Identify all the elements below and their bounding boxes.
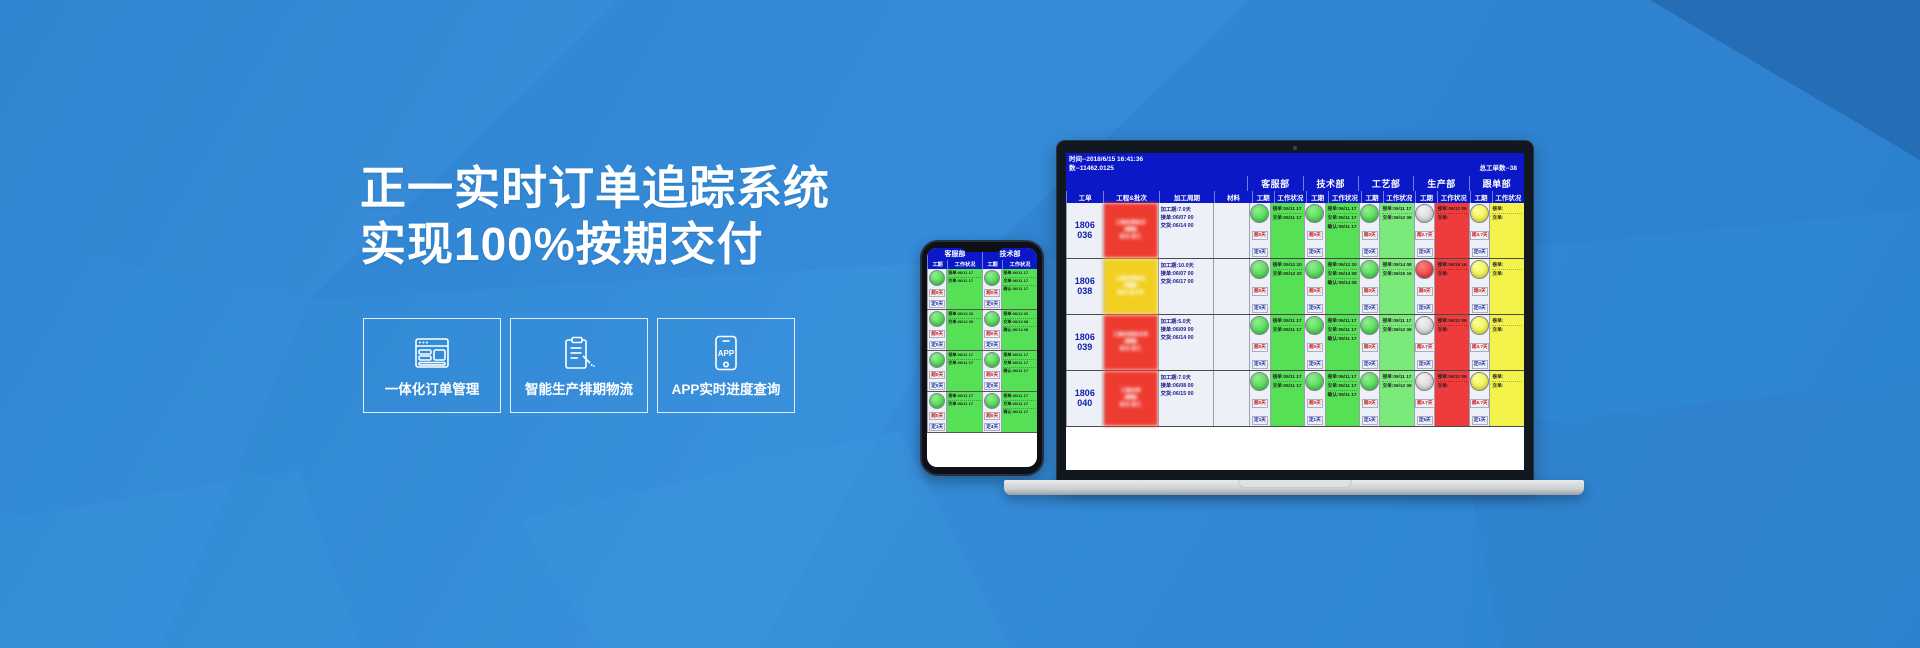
dept-status-detail: 接单:06/11 17交单:06/11 17	[1271, 315, 1305, 370]
phone-status-gauge-green-icon	[929, 311, 945, 327]
phone-duration-column: 超0天定0天	[928, 269, 947, 309]
status-badge-planned: 定0天	[1362, 360, 1378, 368]
cell-project-batch: 工程名称批次号(模糊)批次-加工	[1103, 315, 1158, 370]
col-header-duration-5: 工期	[1470, 191, 1492, 203]
dept-duration-column: 超0天定0天	[1305, 315, 1325, 370]
dept-duration-column: 超0天定1天	[1360, 371, 1380, 426]
dept-duration-column: 超0天定0天	[1250, 315, 1270, 370]
dept-status-detail: 接单:06/11 17交单:06/11 17	[1271, 203, 1305, 258]
cell-material	[1213, 203, 1250, 258]
status-gauge-green-icon	[1250, 204, 1269, 223]
feature-label-app-query: APP实时进度查询	[672, 378, 781, 398]
dept-status-detail: 接单:交单:	[1490, 203, 1524, 258]
status-badge-overdue: 超0天	[1307, 399, 1323, 407]
phone-duration-column: 超0天定4天	[983, 392, 1002, 432]
dept-status-detail: 接单:06/11 17交单:06/11 17确认:06/11 17	[1326, 203, 1360, 258]
status-badge-planned: 定0天	[1417, 248, 1433, 256]
status-badge-overdue: 超0天	[1252, 287, 1268, 295]
status-gauge-green-icon	[1360, 372, 1379, 391]
cell-dept-status-2[interactable]: 超0天定0天接单:06/12 20交单:06/14 08确认:06/14 08	[1304, 259, 1359, 314]
dept-duration-column: 超0天定0天	[1305, 259, 1325, 314]
cell-dept-status-1[interactable]: 超0天定0天接单:06/12 20交单:06/12 20	[1249, 259, 1304, 314]
phone-status-badge-planned: 定0天	[984, 341, 1000, 349]
dept-duration-column: 超2.7天定0天	[1415, 315, 1435, 370]
table-row[interactable]: 1806038工程名称批次(模糊)批次-加工件加工期:10.0天接单:06/07…	[1066, 259, 1524, 315]
status-gauge-green-icon	[1305, 316, 1324, 335]
feature-label-production-logistics: 智能生产排期物流	[525, 378, 633, 398]
hero-copy: 正一实时订单追踪系统 实现100%按期交付	[360, 160, 880, 272]
laptop-screen: 时间--2018/6/15 16:41:36 数--11462.0125 总工单…	[1066, 153, 1524, 470]
dept-status-detail: 接单:06/12 20交单:06/12 20	[1271, 259, 1305, 314]
banner-stage: 正一实时订单追踪系统 实现100%按期交付 一体化订单管理	[0, 0, 1920, 648]
mobile-app-icon: APP	[713, 333, 739, 373]
status-badge-overdue: 超0天	[1417, 287, 1433, 295]
phone-duration-column: 超0天定0天	[928, 351, 947, 391]
erp-column-header: 工单 工程&批次 加工周期 材料 工期工作状况工期工作状况工期工作状况工期工作状…	[1066, 191, 1524, 203]
feature-card-app-query[interactable]: APP APP实时进度查询	[657, 318, 795, 413]
phone-duration-column: 超0天定0天	[983, 310, 1002, 350]
dept-status-detail: 接单:06/11 17交单:06/11 17确认:06/11 17	[1326, 371, 1360, 426]
cell-order-number: 1806039	[1066, 315, 1103, 370]
status-badge-planned: 定0天	[1472, 248, 1488, 256]
status-badge-planned: 定0天	[1307, 248, 1323, 256]
dept-status-detail: 接单:06/12 09交单:	[1435, 315, 1469, 370]
status-gauge-green-icon	[1250, 260, 1269, 279]
status-badge-overdue: 超0天	[1362, 343, 1378, 351]
col-header-duration-3: 工期	[1361, 191, 1383, 203]
dept-header-technology: 技术部	[1303, 176, 1358, 191]
cell-dept-status-3[interactable]: 超0天定0天接单:06/11 17交单:06/12 09	[1359, 315, 1414, 370]
phone-dept-cell-1[interactable]: 超0天定0天接单:06/11 17交单:06/11 17	[927, 269, 982, 309]
phone-duration-column: 超0天定0天	[928, 310, 947, 350]
cell-dept-status-2[interactable]: 超0天定0天接单:06/11 17交单:06/11 17确认:06/11 17	[1304, 203, 1359, 258]
dept-duration-column: 超0天定0天	[1250, 259, 1270, 314]
dept-duration-column: 超0天定0天	[1250, 203, 1270, 258]
dept-status-detail: 接单:06/11 17交单:06/11 17	[1271, 371, 1305, 426]
phone-status-gauge-green-icon	[984, 352, 1000, 368]
col-header-cycle: 加工周期	[1159, 191, 1214, 203]
laptop-trackpad-notch	[1238, 480, 1352, 488]
feature-card-production-logistics[interactable]: 智能生产排期物流	[510, 318, 648, 413]
col-header-duration-4: 工期	[1415, 191, 1437, 203]
cell-material	[1213, 315, 1250, 370]
phone-dept-cell-1[interactable]: 超0天定0天接单:06/11 17交单:06/11 17	[927, 351, 982, 391]
erp-number-label: 数--11462.0125	[1069, 164, 1143, 173]
cell-material	[1213, 259, 1250, 314]
cell-project-batch: 工程名称批次(模糊)批次-加工件	[1103, 259, 1158, 314]
dashboard-icon	[414, 333, 450, 373]
status-gauge-yellow-icon	[1470, 204, 1489, 223]
phone-status-gauge-green-icon	[929, 393, 945, 409]
status-badge-overdue: 超3.7天	[1470, 231, 1490, 239]
phone-status-badge-overdue: 超0天	[984, 412, 1000, 420]
phone-dept-cell-1[interactable]: 超0天定0天接单:06/12 20交单:06/12 20	[927, 310, 982, 350]
dept-status-detail: 接单:交单:	[1490, 371, 1524, 426]
status-gauge-yellow-icon	[1470, 260, 1489, 279]
status-badge-planned: 定0天	[1417, 304, 1433, 312]
cell-processing-cycle: 加工期:7.0天接单:06/07 00交货:06/14 00	[1158, 203, 1213, 258]
cell-dept-status-3[interactable]: 超0天定1天接单:06/11 17交单:06/12 09	[1359, 371, 1414, 426]
dept-duration-column: 超0天定0天	[1360, 315, 1380, 370]
phone-sub-status-1: 工作状况	[947, 260, 982, 269]
status-badge-overdue: 超2.7天	[1415, 231, 1435, 239]
cell-order-number: 1806040	[1066, 371, 1103, 426]
status-badge-overdue: 超0天	[1362, 231, 1378, 239]
table-row[interactable]: 1806036工程名称批次(模糊)批次-加工加工期:7.0天接单:06/07 0…	[1066, 203, 1524, 259]
phone-status-badge-planned: 定0天	[984, 382, 1000, 390]
erp-time-label: 时间--2018/6/15 16:41:36	[1069, 155, 1143, 164]
dept-duration-column: 超3.7天定5天	[1415, 371, 1435, 426]
status-gauge-green-icon	[1360, 204, 1379, 223]
dept-header-followup: 跟单部	[1469, 176, 1524, 191]
phone-status-badge-overdue: 超0天	[929, 289, 945, 297]
status-badge-planned: 定1天	[1252, 416, 1268, 424]
phone-status-badge-overdue: 超0天	[929, 371, 945, 379]
status-badge-planned: 定0天	[1252, 360, 1268, 368]
page-title: 正一实时订单追踪系统 实现100%按期交付	[360, 160, 880, 272]
phone-status-detail: 接单:06/11 17交单:06/11 17	[947, 392, 982, 432]
phone-status-badge-planned: 定1天	[929, 423, 945, 431]
laptop-lid: 时间--2018/6/15 16:41:36 数--11462.0125 总工单…	[1056, 140, 1534, 487]
table-row[interactable]: 1806039工程名称批次号(模糊)批次-加工加工期:5.0天接单:06/09 …	[1066, 315, 1524, 371]
phone-status-badge-planned: 定0天	[929, 300, 945, 308]
dept-header-customer-service: 客服部	[1247, 176, 1302, 191]
cell-dept-status-2[interactable]: 超0天定1天接单:06/11 17交单:06/11 17确认:06/11 17	[1304, 371, 1359, 426]
cell-material	[1213, 371, 1250, 426]
dept-header-production: 生产部	[1413, 176, 1468, 191]
dept-duration-column: 超2.7天定0天	[1415, 203, 1435, 258]
dept-status-detail: 接单:06/15 16交单:	[1435, 259, 1469, 314]
status-badge-planned: 定0天	[1307, 360, 1323, 368]
cell-dept-status-1[interactable]: 超0天定1天接单:06/11 17交单:06/11 17	[1249, 371, 1304, 426]
cell-dept-status-1[interactable]: 超0天定0天接单:06/11 17交单:06/11 17	[1249, 315, 1304, 370]
phone-status-detail: 接单:06/11 17交单:06/11 17	[947, 269, 982, 309]
status-badge-planned: 定5天	[1417, 416, 1433, 424]
dept-duration-column: 超3.7天定0天	[1470, 315, 1490, 370]
dept-status-detail: 接单:06/14 08交单:06/15 16	[1380, 259, 1414, 314]
table-row[interactable]: 1806040工程名称(模糊)批次-加工加工期:7.0天接单:06/08 00交…	[1066, 371, 1524, 427]
phone-status-gauge-green-icon	[929, 352, 945, 368]
phone-status-badge-overdue: 超0天	[984, 289, 1000, 297]
cell-processing-cycle: 加工期:5.0天接单:06/09 00交货:06/14 00	[1158, 315, 1213, 370]
erp-table-body: 1806036工程名称批次(模糊)批次-加工加工期:7.0天接单:06/07 0…	[1066, 203, 1524, 427]
col-header-material: 材料	[1214, 191, 1251, 203]
feature-card-order-management[interactable]: 一体化订单管理	[363, 318, 501, 413]
status-gauge-grey-icon	[1415, 316, 1434, 335]
col-header-status-2: 工作状况	[1328, 191, 1361, 203]
svg-text:APP: APP	[718, 349, 735, 358]
col-header-order: 工单	[1066, 191, 1103, 203]
status-badge-planned: 定0天	[1472, 360, 1488, 368]
phone-status-badge-overdue: 超0天	[984, 330, 1000, 338]
headline-line-2: 实现100%按期交付	[360, 216, 880, 272]
cell-order-number: 1806036	[1066, 203, 1103, 258]
phone-status-detail: 接单:06/11 17交单:06/11 17	[947, 351, 982, 391]
status-badge-overdue: 超0天	[1307, 343, 1323, 351]
laptop-mockup: 时间--2018/6/15 16:41:36 数--11462.0125 总工单…	[1004, 140, 1584, 500]
cell-dept-status-1[interactable]: 超0天定0天接单:06/11 17交单:06/11 17	[1249, 203, 1304, 258]
cell-dept-status-4[interactable]: 超3.7天定5天接单:06/12 09交单:	[1414, 371, 1469, 426]
dept-status-detail: 接单:06/11 17交单:06/11 17确认:06/11 17	[1326, 315, 1360, 370]
col-header-status-1: 工作状况	[1274, 191, 1307, 203]
status-badge-planned: 定0天	[1472, 304, 1488, 312]
col-header-duration-1: 工期	[1252, 191, 1274, 203]
dept-status-detail: 接单:交单:	[1490, 315, 1524, 370]
status-gauge-green-icon	[1250, 316, 1269, 335]
cell-dept-status-4[interactable]: 超0天定0天接单:06/15 16交单:	[1414, 259, 1469, 314]
status-gauge-green-icon	[1305, 260, 1324, 279]
status-gauge-green-icon	[1360, 260, 1379, 279]
status-badge-overdue: 超3.7天	[1415, 399, 1435, 407]
dept-status-detail: 接单:06/11 17交单:06/12 09	[1380, 371, 1414, 426]
status-gauge-green-icon	[1305, 372, 1324, 391]
phone-status-badge-overdue: 超0天	[984, 371, 1000, 379]
status-badge-planned: 定0天	[1252, 248, 1268, 256]
phone-notch	[961, 244, 1003, 252]
status-gauge-grey-icon	[1415, 372, 1434, 391]
cell-dept-status-4[interactable]: 超2.7天定0天接单:06/12 09交单:	[1414, 203, 1469, 258]
dept-duration-column: 超0天定0天	[1305, 203, 1325, 258]
phone-status-gauge-green-icon	[984, 393, 1000, 409]
feature-list: 一体化订单管理 智能生产排期物流	[363, 318, 795, 413]
headline-line-1: 正一实时订单追踪系统	[360, 162, 830, 214]
cell-dept-status-2[interactable]: 超0天定0天接单:06/11 17交单:06/11 17确认:06/11 17	[1304, 315, 1359, 370]
phone-sub-duration-1: 工期	[927, 260, 947, 269]
phone-duration-column: 超0天定1天	[928, 392, 947, 432]
col-header-project: 工程&批次	[1103, 191, 1158, 203]
feature-label-order-management: 一体化订单管理	[385, 378, 480, 398]
status-gauge-green-icon	[1360, 316, 1379, 335]
phone-sub-duration-2: 工期	[982, 260, 1002, 269]
dept-duration-column: 超0天定1天	[1305, 371, 1325, 426]
col-header-status-3: 工作状况	[1383, 191, 1416, 203]
dept-status-detail: 接单:06/11 17交单:06/12 09	[1380, 315, 1414, 370]
status-gauge-yellow-icon	[1470, 316, 1489, 335]
status-gauge-grey-icon	[1415, 204, 1434, 223]
status-badge-overdue: 超0天	[1252, 231, 1268, 239]
cell-project-batch: 工程名称(模糊)批次-加工	[1103, 371, 1158, 426]
cell-dept-status-4[interactable]: 超2.7天定0天接单:06/12 09交单:	[1414, 315, 1469, 370]
erp-status-bar: 时间--2018/6/15 16:41:36 数--11462.0125 总工单…	[1066, 153, 1524, 176]
cell-dept-status-5[interactable]: 超0天定0天接单:交单:	[1469, 259, 1524, 314]
status-gauge-green-icon	[1305, 204, 1324, 223]
status-badge-overdue: 超0天	[1252, 343, 1268, 351]
phone-status-gauge-green-icon	[929, 270, 945, 286]
status-badge-planned: 定1天	[1472, 416, 1488, 424]
cell-dept-status-5[interactable]: 超3.7天定0天接单:交单:	[1469, 203, 1524, 258]
phone-status-detail: 接单:06/12 20交单:06/12 20	[947, 310, 982, 350]
dept-duration-column: 超0天定0天	[1360, 203, 1380, 258]
phone-status-badge-overdue: 超0天	[929, 330, 945, 338]
cell-dept-status-5[interactable]: 超6.7天定1天接单:交单:	[1469, 371, 1524, 426]
status-badge-planned: 定0天	[1362, 304, 1378, 312]
dept-status-detail: 接单:交单:	[1490, 259, 1524, 314]
phone-status-gauge-green-icon	[984, 270, 1000, 286]
status-badge-planned: 定0天	[1252, 304, 1268, 312]
phone-status-gauge-green-icon	[984, 311, 1000, 327]
phone-duration-column: 超0天定0天	[983, 269, 1002, 309]
cell-dept-status-3[interactable]: 超0天定0天接单:06/14 08交单:06/15 16	[1359, 259, 1414, 314]
status-badge-planned: 定0天	[1307, 304, 1323, 312]
status-badge-planned: 定1天	[1307, 416, 1323, 424]
cell-dept-status-3[interactable]: 超0天定0天接单:06/11 17交单:06/12 09	[1359, 203, 1414, 258]
phone-status-badge-planned: 定0天	[929, 382, 945, 390]
phone-duration-column: 超0天定0天	[983, 351, 1002, 391]
erp-department-header: 客服部 技术部 工艺部 生产部 跟单部	[1066, 176, 1524, 191]
phone-status-badge-planned: 定4天	[984, 423, 1000, 431]
phone-status-badge-overdue: 超0天	[929, 412, 945, 420]
status-gauge-red-icon	[1415, 260, 1434, 279]
status-badge-planned: 定0天	[1362, 248, 1378, 256]
status-badge-planned: 定1天	[1362, 416, 1378, 424]
dept-duration-column: 超3.7天定0天	[1470, 203, 1490, 258]
phone-dept-cell-1[interactable]: 超0天定1天接单:06/11 17交单:06/11 17	[927, 392, 982, 432]
dept-status-detail: 接单:06/12 20交单:06/14 08确认:06/14 08	[1326, 259, 1360, 314]
dept-duration-column: 超0天定0天	[1360, 259, 1380, 314]
status-badge-overdue: 超0天	[1362, 399, 1378, 407]
erp-total-orders-label: 总工单数--38	[1479, 164, 1517, 173]
status-gauge-yellow-icon	[1470, 372, 1489, 391]
status-badge-overdue: 超0天	[1362, 287, 1378, 295]
dept-duration-column: 超0天定0天	[1470, 259, 1490, 314]
status-badge-overdue: 超0天	[1252, 399, 1268, 407]
status-gauge-green-icon	[1250, 372, 1269, 391]
col-header-status-5: 工作状况	[1492, 191, 1524, 203]
dept-header-process: 工艺部	[1358, 176, 1413, 191]
dept-duration-column: 超0天定1天	[1250, 371, 1270, 426]
col-header-status-4: 工作状况	[1437, 191, 1470, 203]
status-badge-overdue: 超2.7天	[1415, 343, 1435, 351]
status-badge-overdue: 超0天	[1472, 287, 1488, 295]
webcam-icon	[1293, 146, 1297, 150]
status-badge-overdue: 超3.7天	[1470, 343, 1490, 351]
dept-duration-column: 超6.7天定1天	[1470, 371, 1490, 426]
col-header-duration-2: 工期	[1306, 191, 1328, 203]
cell-project-batch: 工程名称批次(模糊)批次-加工	[1103, 203, 1158, 258]
dept-status-detail: 接单:06/11 17交单:06/12 09	[1380, 203, 1414, 258]
dept-status-detail: 接单:06/12 09交单:	[1435, 203, 1469, 258]
phone-status-badge-planned: 定0天	[929, 341, 945, 349]
cell-order-number: 1806038	[1066, 259, 1103, 314]
status-badge-overdue: 超0天	[1307, 231, 1323, 239]
cell-processing-cycle: 加工期:7.0天接单:06/08 00交货:06/15 00	[1158, 371, 1213, 426]
status-badge-overdue: 超0天	[1307, 287, 1323, 295]
cell-dept-status-5[interactable]: 超3.7天定0天接单:交单:	[1469, 315, 1524, 370]
cell-processing-cycle: 加工期:10.0天接单:06/07 00交货:06/17 00	[1158, 259, 1213, 314]
status-badge-planned: 定0天	[1417, 360, 1433, 368]
clipboard-icon	[563, 333, 595, 373]
dept-status-detail: 接单:06/12 09交单:	[1435, 371, 1469, 426]
phone-status-badge-planned: 定0天	[984, 300, 1000, 308]
status-badge-overdue: 超6.7天	[1470, 399, 1490, 407]
dept-duration-column: 超0天定0天	[1415, 259, 1435, 314]
